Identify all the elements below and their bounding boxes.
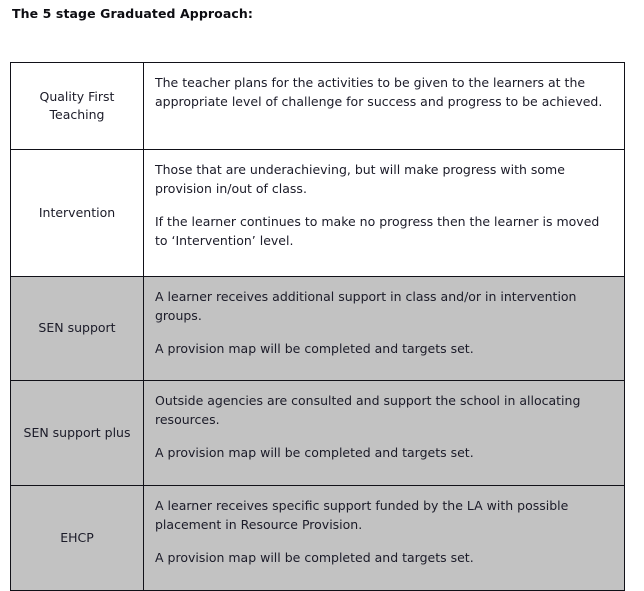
stage-label-cell: SEN support plus	[11, 381, 144, 486]
stage-description-cell: Those that are underachieving, but will …	[144, 150, 625, 277]
document-page: The 5 stage Graduated Approach: Quality …	[0, 0, 644, 561]
stage-label-cell: SEN support	[11, 277, 144, 381]
stage-description-cell: Outside agencies are consulted and suppo…	[144, 381, 625, 486]
table-row: EHCP A learner receives specific support…	[11, 486, 625, 591]
description-paragraph: If the learner continues to make no prog…	[155, 212, 612, 250]
graduated-approach-table: Quality First Teaching The teacher plans…	[10, 62, 625, 591]
stage-label-cell: Intervention	[11, 150, 144, 277]
page-title: The 5 stage Graduated Approach:	[12, 6, 253, 21]
description-paragraph: Outside agencies are consulted and suppo…	[155, 391, 612, 429]
table-row: Quality First Teaching The teacher plans…	[11, 63, 625, 150]
description-paragraph: A provision map will be completed and ta…	[155, 548, 612, 567]
description-paragraph: A learner receives specific support fund…	[155, 496, 612, 534]
table-row: SEN support plus Outside agencies are co…	[11, 381, 625, 486]
description-paragraph: A learner receives additional support in…	[155, 287, 612, 325]
description-paragraph: A provision map will be completed and ta…	[155, 443, 612, 462]
table-row: SEN support A learner receives additiona…	[11, 277, 625, 381]
description-paragraph: A provision map will be completed and ta…	[155, 339, 612, 358]
table-row: Intervention Those that are underachievi…	[11, 150, 625, 277]
stage-description-cell: A learner receives additional support in…	[144, 277, 625, 381]
stage-label-cell: EHCP	[11, 486, 144, 591]
description-paragraph: Those that are underachieving, but will …	[155, 160, 612, 198]
stage-label-cell: Quality First Teaching	[11, 63, 144, 150]
stage-description-cell: A learner receives specific support fund…	[144, 486, 625, 591]
stage-description-cell: The teacher plans for the activities to …	[144, 63, 625, 150]
description-paragraph: The teacher plans for the activities to …	[155, 73, 612, 111]
